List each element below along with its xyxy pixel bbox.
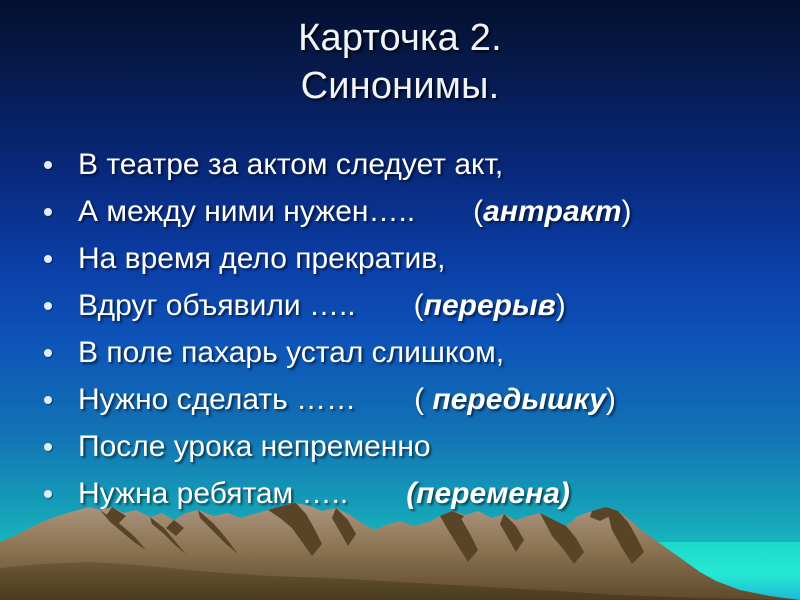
riddle-bullet-list: В театре за актом следует акт,А между ни… <box>40 141 780 517</box>
bullet-text: В поле пахарь устал слишком, <box>78 336 504 370</box>
answer-word: передышку <box>432 383 605 416</box>
bullet-row: После урока непременно <box>40 423 780 470</box>
bullet-dot-icon <box>44 302 52 310</box>
bullet-dot-icon <box>44 396 52 404</box>
bullet-dot-icon <box>44 349 52 357</box>
mountain-landscape <box>0 480 800 600</box>
answer-open-paren: ( <box>414 383 432 416</box>
riddle-prompt: Нужно сделать …… <box>78 383 356 417</box>
slide-title: Карточка 2. Синонимы. <box>0 14 800 110</box>
bullet-row: В поле пахарь устал слишком, <box>40 329 780 376</box>
bullet-text: После урока непременно <box>78 430 431 464</box>
title-line-2: Синонимы. <box>0 62 800 110</box>
bullet-text: В театре за актом следует акт, <box>78 148 503 182</box>
bullet-text: На время дело прекратив, <box>78 242 445 276</box>
riddle-prompt: На время дело прекратив, <box>78 242 445 276</box>
riddle-answer: ( передышку) <box>414 383 616 417</box>
answer-word: перерыв <box>424 289 556 322</box>
bullet-row: Вдруг объявили …..(перерыв) <box>40 282 780 329</box>
bullet-dot-icon <box>44 255 52 263</box>
answer-close-paren: ) <box>556 289 566 322</box>
bullet-row: Нужно сделать ……( передышку) <box>40 376 780 423</box>
slide-canvas: Карточка 2. Синонимы. В театре за актом … <box>0 0 800 600</box>
bullet-dot-icon <box>44 208 52 216</box>
title-line-1: Карточка 2. <box>0 14 800 62</box>
bullet-row: А между ними нужен…..(антракт) <box>40 188 780 235</box>
answer-open-paren: ( <box>414 289 424 322</box>
riddle-answer: (перерыв) <box>414 289 566 323</box>
bullet-text: Нужно сделать ……( передышку) <box>78 383 616 417</box>
answer-close-paren: ) <box>606 383 616 416</box>
bullet-row: На время дело прекратив, <box>40 235 780 282</box>
bullet-dot-icon <box>44 161 52 169</box>
riddle-prompt: После урока непременно <box>78 430 431 464</box>
bullet-row: В театре за актом следует акт, <box>40 141 780 188</box>
riddle-prompt: В поле пахарь устал слишком, <box>78 336 504 370</box>
bullet-text: А между ними нужен…..(антракт) <box>78 195 632 229</box>
answer-open-paren: ( <box>473 195 483 228</box>
answer-close-paren: ) <box>622 195 632 228</box>
riddle-answer: (антракт) <box>473 195 631 229</box>
bullet-text: Вдруг объявили …..(перерыв) <box>78 289 566 323</box>
answer-word: антракт <box>483 195 621 228</box>
bullet-dot-icon <box>44 443 52 451</box>
riddle-prompt: А между ними нужен….. <box>78 195 415 229</box>
riddle-prompt: Вдруг объявили ….. <box>78 289 356 323</box>
riddle-prompt: В театре за актом следует акт, <box>78 148 503 182</box>
